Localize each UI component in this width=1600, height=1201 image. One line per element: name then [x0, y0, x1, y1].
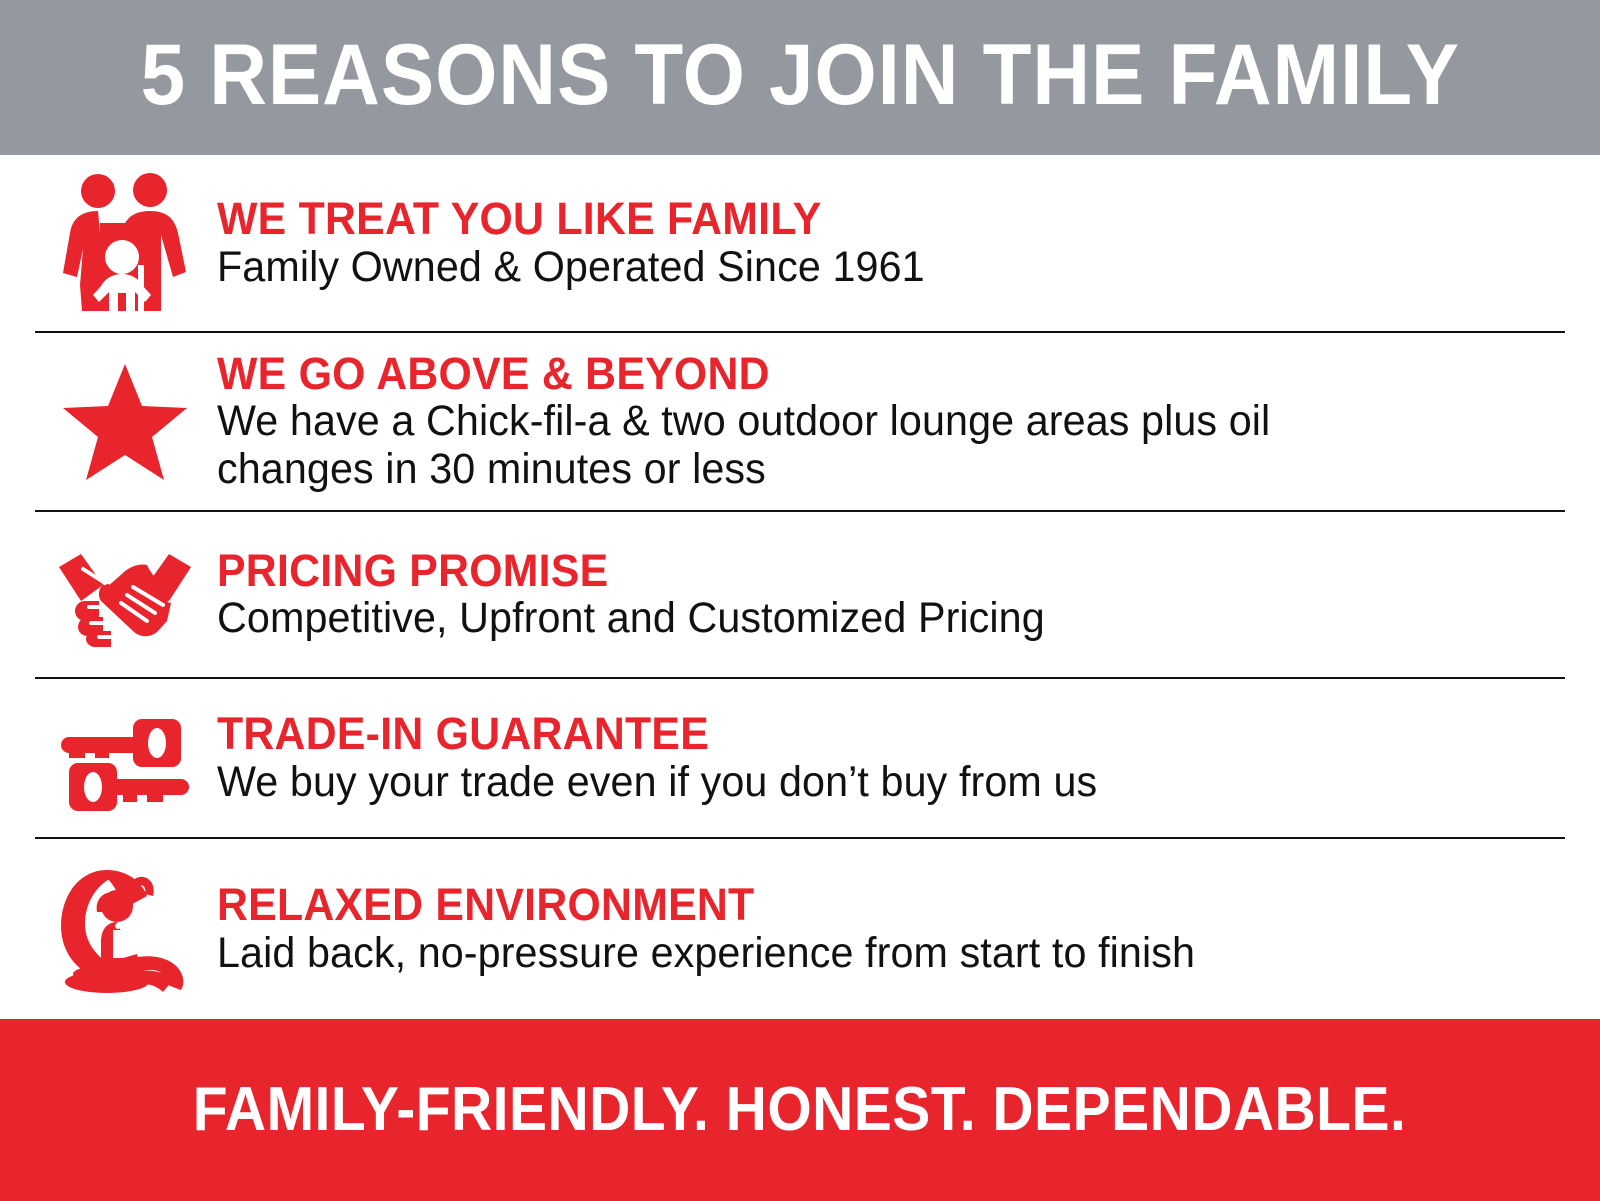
reason-description-3: Competitive, Upfront and Customized Pric…: [217, 594, 1511, 642]
reason-description-2: We have a Chick-fil-a & two outdoor loun…: [217, 397, 1511, 493]
reason-desc-line: We buy your trade even if you don’t buy …: [217, 758, 1511, 806]
recliner-icon: [35, 864, 215, 994]
reason-title-1: WE TREAT YOU LIKE FAMILY: [217, 195, 1498, 242]
reason-desc-line: Family Owned & Operated Since 1961: [217, 243, 1511, 291]
page-title: 5 REASONS TO JOIN THE FAMILY: [140, 32, 1459, 124]
list-item-reason-5: RELAXED ENVIRONMENT Laid back, no-pressu…: [35, 839, 1565, 1019]
reason-description-5: Laid back, no-pressure experience from s…: [217, 929, 1511, 977]
list-item-reason-1: WE TREAT YOU LIKE FAMILY Family Owned & …: [35, 155, 1565, 333]
family-icon: [35, 173, 215, 313]
footer-tagline: FAMILY-FRIENDLY. HONEST. DEPENDABLE.: [193, 1079, 1407, 1141]
infographic-poster: 5 REASONS TO JOIN THE FAMILY: [0, 0, 1600, 1200]
reasons-list: WE TREAT YOU LIKE FAMILY Family Owned & …: [0, 155, 1600, 1019]
reason-text-5: RELAXED ENVIRONMENT Laid back, no-pressu…: [215, 881, 1565, 976]
header-banner: 5 REASONS TO JOIN THE FAMILY: [0, 0, 1600, 155]
reason-desc-line: Competitive, Upfront and Customized Pric…: [217, 594, 1511, 642]
handshake-icon: [35, 543, 215, 647]
reason-text-4: TRADE-IN GUARANTEE We buy your trade eve…: [215, 710, 1565, 805]
reason-text-3: PRICING PROMISE Competitive, Upfront and…: [215, 547, 1565, 642]
star-icon: [35, 360, 215, 484]
reason-title-3: PRICING PROMISE: [217, 547, 1498, 594]
reason-text-2: WE GO ABOVE & BEYOND We have a Chick-fil…: [215, 350, 1565, 494]
footer-banner: FAMILY-FRIENDLY. HONEST. DEPENDABLE.: [0, 1019, 1600, 1201]
reason-description-1: Family Owned & Operated Since 1961: [217, 243, 1511, 291]
reason-title-4: TRADE-IN GUARANTEE: [217, 710, 1498, 757]
list-item-reason-2: WE GO ABOVE & BEYOND We have a Chick-fil…: [35, 333, 1565, 512]
reason-desc-line: We have a Chick-fil-a & two outdoor loun…: [217, 397, 1511, 445]
reason-title-5: RELAXED ENVIRONMENT: [217, 881, 1498, 928]
keys-icon: [35, 705, 215, 811]
reason-title-2: WE GO ABOVE & BEYOND: [217, 350, 1498, 397]
list-item-reason-4: TRADE-IN GUARANTEE We buy your trade eve…: [35, 679, 1565, 839]
reason-desc-line: Laid back, no-pressure experience from s…: [217, 929, 1511, 977]
reason-desc-line: changes in 30 minutes or less: [217, 445, 1511, 493]
reason-text-1: WE TREAT YOU LIKE FAMILY Family Owned & …: [215, 195, 1565, 290]
reason-description-4: We buy your trade even if you don’t buy …: [217, 758, 1511, 806]
list-item-reason-3: PRICING PROMISE Competitive, Upfront and…: [35, 512, 1565, 679]
